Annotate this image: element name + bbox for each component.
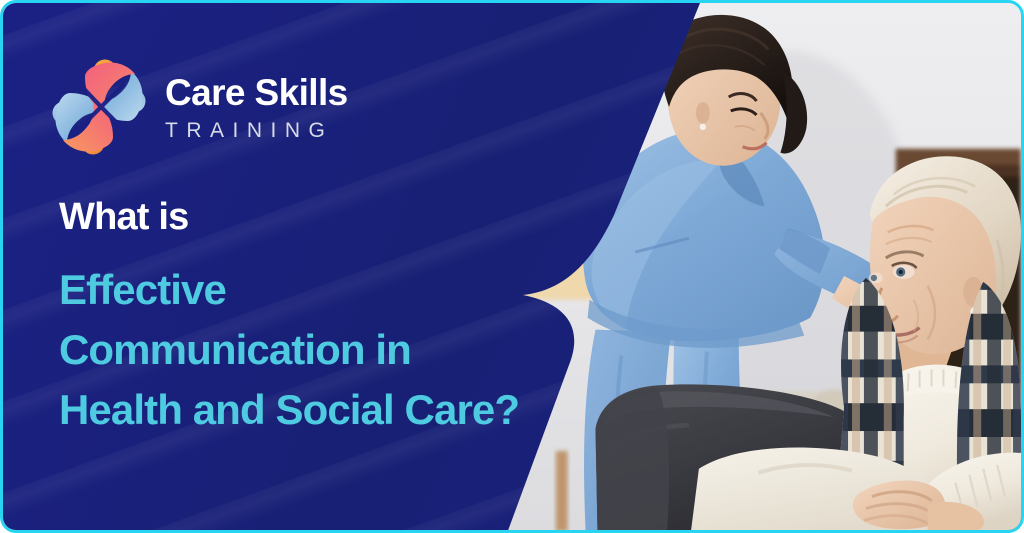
headline-line-2: Communication in	[59, 320, 599, 380]
logo-wordmark: Care Skills TRAINING	[165, 74, 348, 141]
headline-block: What is Effective Communication in Healt…	[59, 196, 599, 440]
headline-line-1: Effective	[59, 260, 599, 320]
care-skills-pinwheel-icon	[47, 55, 151, 159]
promo-banner: Care Skills TRAINING What is Effective C…	[0, 0, 1024, 533]
logo-subtitle: TRAINING	[165, 120, 348, 141]
brand-logo[interactable]: Care Skills TRAINING	[47, 55, 348, 159]
headline-kicker: What is	[59, 196, 599, 240]
headline-line-3: Health and Social Care?	[59, 380, 599, 440]
logo-title: Care Skills	[165, 74, 348, 111]
page-title: Effective Communication in Health and So…	[59, 260, 599, 440]
